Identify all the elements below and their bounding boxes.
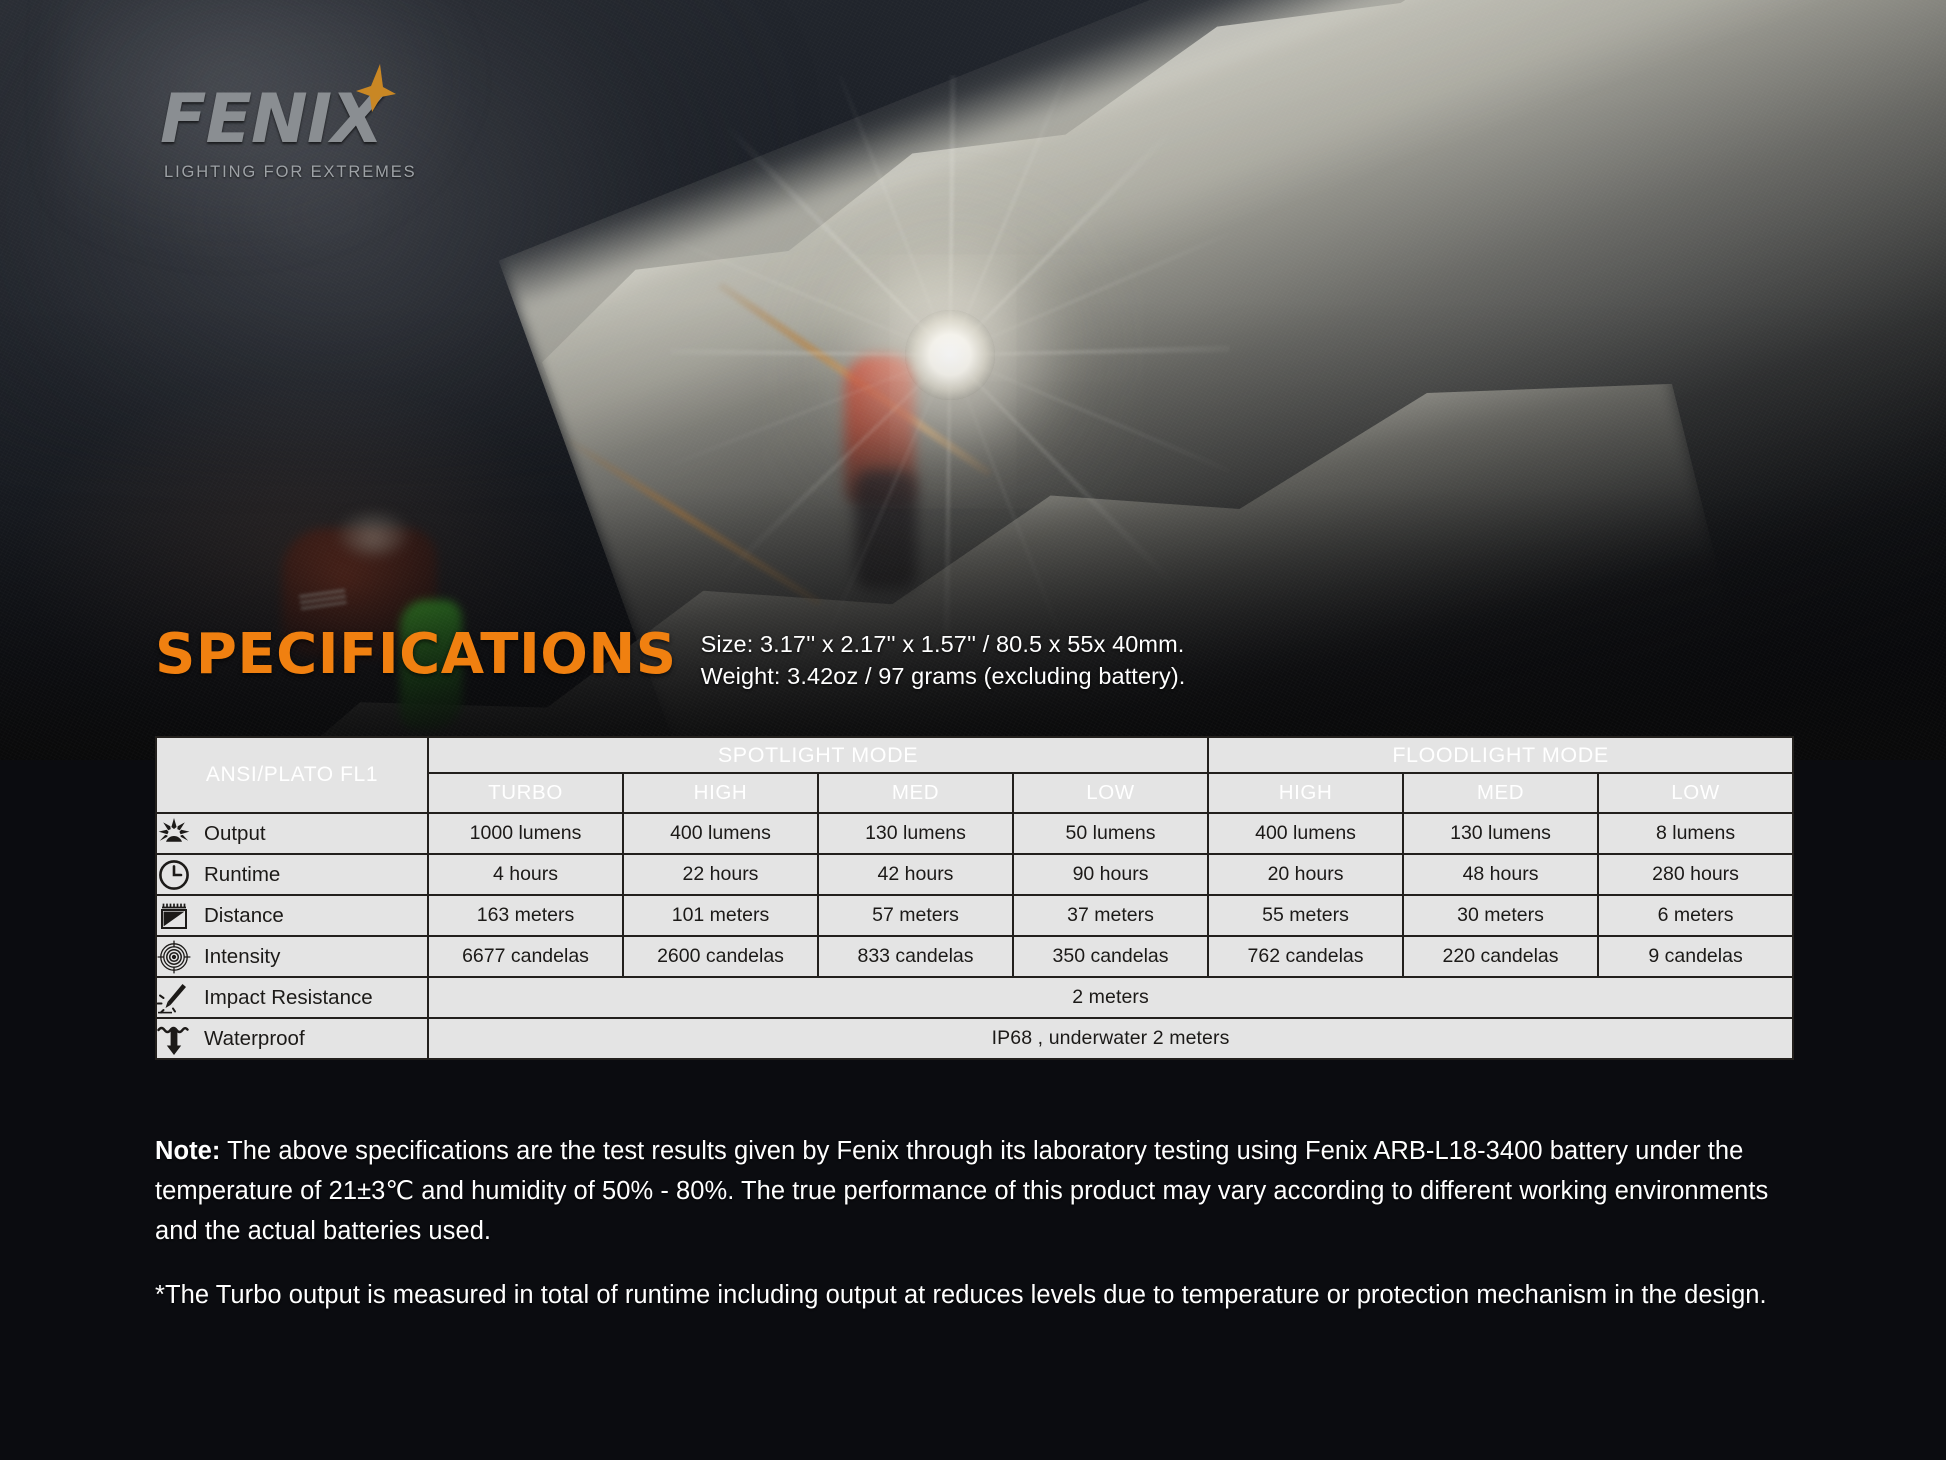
clock-icon: [157, 858, 191, 892]
specifications-table-wrapper: ANSI/PLATO FL1 SPOTLIGHT MODE FLOODLIGHT…: [155, 736, 1792, 1060]
cell-output-floodlight-low: 8 lumens: [1598, 813, 1793, 854]
table-row-impact-resistance: Impact Resistance 2 meters: [156, 977, 1793, 1018]
table-row-output: Output 1000 lumens 400 lumens 130 lumens…: [156, 813, 1793, 854]
row-label-text: Waterproof: [204, 1027, 305, 1051]
cell-intensity-spotlight-low: 350 candelas: [1013, 936, 1208, 977]
row-label-text: Impact Resistance: [204, 986, 373, 1010]
fenix-tagline: LIGHTING FOR EXTREMES: [164, 163, 417, 182]
beam-ruler-icon: [157, 899, 191, 933]
waterproof-icon: [157, 1022, 191, 1056]
dimension-summary: Size: 3.17'' x 2.17'' x 1.57'' / 80.5 x …: [701, 629, 1186, 693]
row-label-intensity: Intensity: [156, 936, 428, 977]
cell-distance-spotlight-med: 57 meters: [818, 895, 1013, 936]
row-label-output: Output: [156, 813, 428, 854]
cell-distance-spotlight-high: 101 meters: [623, 895, 818, 936]
cell-runtime-spotlight-high: 22 hours: [623, 854, 818, 895]
cell-intensity-floodlight-high: 762 candelas: [1208, 936, 1403, 977]
specifications-heading-block: SPECIFICATIONS Size: 3.17'' x 2.17'' x 1…: [155, 627, 1185, 693]
cell-runtime-spotlight-low: 90 hours: [1013, 854, 1208, 895]
row-label-distance: Distance: [156, 895, 428, 936]
row-label-impact-resistance: Impact Resistance: [156, 977, 428, 1018]
cell-intensity-floodlight-med: 220 candelas: [1403, 936, 1598, 977]
cell-intensity-spotlight-high: 2600 candelas: [623, 936, 818, 977]
target-icon: [157, 940, 191, 974]
four-point-star-icon: [356, 64, 396, 112]
mode-header-floodlight-low: LOW: [1598, 773, 1793, 813]
row-label-waterproof: Waterproof: [156, 1018, 428, 1059]
mode-header-spotlight-med: MED: [818, 773, 1013, 813]
row-label-runtime: Runtime: [156, 854, 428, 895]
group-header-spotlight-mode: SPOTLIGHT MODE: [428, 737, 1208, 773]
mode-header-floodlight-high: HIGH: [1208, 773, 1403, 813]
cell-intensity-spotlight-turbo: 6677 candelas: [428, 936, 623, 977]
mode-header-floodlight-med: MED: [1403, 773, 1598, 813]
impact-icon: [157, 981, 191, 1015]
table-row-waterproof: Waterproof IP68 , underwater 2 meters: [156, 1018, 1793, 1059]
note-label: Note:: [155, 1137, 220, 1165]
cell-impact-resistance-value: 2 meters: [428, 977, 1793, 1018]
note-body: The above specifications are the test re…: [155, 1137, 1768, 1245]
cell-distance-floodlight-high: 55 meters: [1208, 895, 1403, 936]
cell-runtime-floodlight-high: 20 hours: [1208, 854, 1403, 895]
cell-output-spotlight-low: 50 lumens: [1013, 813, 1208, 854]
table-row-distance: Distance 163 meters 101 meters 57 meters…: [156, 895, 1793, 936]
group-header-floodlight-mode: FLOODLIGHT MODE: [1208, 737, 1793, 773]
cell-distance-floodlight-med: 30 meters: [1403, 895, 1598, 936]
sunburst-icon: [157, 817, 191, 851]
cell-output-spotlight-high: 400 lumens: [623, 813, 818, 854]
cell-runtime-floodlight-low: 280 hours: [1598, 854, 1793, 895]
row-label-text: Runtime: [204, 863, 280, 887]
cell-intensity-floodlight-low: 9 candelas: [1598, 936, 1793, 977]
cell-runtime-floodlight-med: 48 hours: [1403, 854, 1598, 895]
mode-header-spotlight-high: HIGH: [623, 773, 818, 813]
row-label-text: Distance: [204, 904, 284, 928]
cell-intensity-spotlight-med: 833 candelas: [818, 936, 1013, 977]
mode-header-spotlight-turbo: TURBO: [428, 773, 623, 813]
note-paragraph: Note: The above specifications are the t…: [155, 1132, 1775, 1251]
specifications-table: ANSI/PLATO FL1 SPOTLIGHT MODE FLOODLIGHT…: [155, 736, 1794, 1060]
cell-waterproof-value: IP68 , underwater 2 meters: [428, 1018, 1793, 1059]
cell-distance-floodlight-low: 6 meters: [1598, 895, 1793, 936]
table-row-runtime: Runtime 4 hours 22 hours 42 hours 90 hou…: [156, 854, 1793, 895]
cell-output-spotlight-turbo: 1000 lumens: [428, 813, 623, 854]
spec-sheet-page: FENIX LIGHTING FOR EXTREMES SPECIFICATIO…: [0, 0, 1946, 1460]
cell-output-spotlight-med: 130 lumens: [818, 813, 1013, 854]
footnote-paragraph: *The Turbo output is measured in total o…: [155, 1276, 1775, 1316]
table-group-header-row: ANSI/PLATO FL1 SPOTLIGHT MODE FLOODLIGHT…: [156, 737, 1793, 773]
cell-output-floodlight-med: 130 lumens: [1403, 813, 1598, 854]
table-row-intensity: Intensity 6677 candelas 2600 candelas 83…: [156, 936, 1793, 977]
row-label-text: Output: [204, 822, 266, 846]
cell-output-floodlight-high: 400 lumens: [1208, 813, 1403, 854]
cell-runtime-spotlight-turbo: 4 hours: [428, 854, 623, 895]
corner-header-ansi-plato: ANSI/PLATO FL1: [156, 737, 428, 813]
mode-header-spotlight-low: LOW: [1013, 773, 1208, 813]
size-line: Size: 3.17'' x 2.17'' x 1.57'' / 80.5 x …: [701, 629, 1186, 661]
row-label-text: Intensity: [204, 945, 280, 969]
cell-runtime-spotlight-med: 42 hours: [818, 854, 1013, 895]
weight-line: Weight: 3.42oz / 97 grams (excluding bat…: [701, 661, 1186, 693]
cell-distance-spotlight-low: 37 meters: [1013, 895, 1208, 936]
fenix-logo: FENIX LIGHTING FOR EXTREMES: [160, 86, 417, 182]
cell-distance-spotlight-turbo: 163 meters: [428, 895, 623, 936]
notes-section: Note: The above specifications are the t…: [155, 1132, 1775, 1316]
page-title: SPECIFICATIONS: [155, 627, 677, 683]
